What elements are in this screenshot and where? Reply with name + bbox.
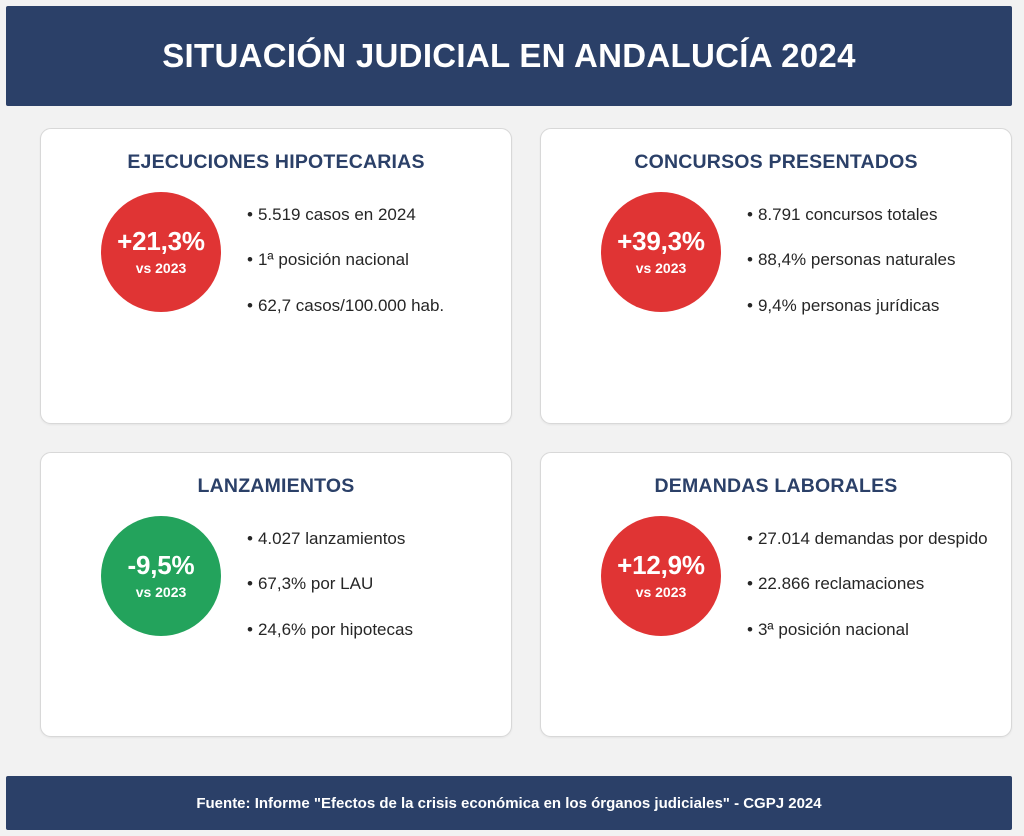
list-item-label: 4.027 lanzamientos [258,529,405,548]
list-item: •24,6% por hipotecas [247,619,493,640]
stat-comparison-label: vs 2023 [636,260,687,276]
list-item: •1ª posición nacional [247,249,493,270]
bullet-list: •5.519 casos en 2024 •1ª posición nacion… [247,204,493,316]
stat-circle: +12,9% vs 2023 [601,516,721,636]
bullet-dot-icon: • [247,528,253,549]
stat-circle: +21,3% vs 2023 [101,192,221,312]
stat-value: +12,9% [617,552,705,579]
header-bar: SITUACIÓN JUDICIAL EN ANDALUCÍA 2024 [6,6,1012,106]
stat-comparison-label: vs 2023 [136,584,187,600]
list-item-label: 8.791 concursos totales [758,205,938,224]
list-item-label: 27.014 demandas por despido [758,529,988,548]
source-citation: Fuente: Informe "Efectos de la crisis ec… [196,795,821,812]
bullet-dot-icon: • [747,619,753,640]
card-title: EJECUCIONES HIPOTECARIAS [59,151,493,174]
list-item: •4.027 lanzamientos [247,528,493,549]
card-body: +12,9% vs 2023 •27.014 demandas por desp… [559,514,993,640]
list-item-label: 9,4% personas jurídicas [758,296,939,315]
list-item-label: 5.519 casos en 2024 [258,205,416,224]
stat-circle: +39,3% vs 2023 [601,192,721,312]
bullet-dot-icon: • [247,295,253,316]
bullet-dot-icon: • [747,249,753,270]
list-item-label: 1ª posición nacional [258,250,409,269]
stat-circle: -9,5% vs 2023 [101,516,221,636]
bullet-dot-icon: • [247,619,253,640]
stat-comparison-label: vs 2023 [136,260,187,276]
stat-value: +21,3% [117,228,205,255]
list-item: •67,3% por LAU [247,573,493,594]
list-item: •22.866 reclamaciones [747,573,993,594]
stat-value: +39,3% [617,228,705,255]
list-item-label: 62,7 casos/100.000 hab. [258,296,444,315]
stat-comparison-label: vs 2023 [636,584,687,600]
list-item: •3ª posición nacional [747,619,993,640]
card-title: LANZAMIENTOS [59,475,493,498]
list-item: •5.519 casos en 2024 [247,204,493,225]
list-item-label: 88,4% personas naturales [758,250,956,269]
card-title: DEMANDAS LABORALES [559,475,993,498]
list-item: •27.014 demandas por despido [747,528,993,549]
bullet-list: •8.791 concursos totales •88,4% personas… [747,204,993,316]
bullet-list: •4.027 lanzamientos •67,3% por LAU •24,6… [247,528,493,640]
bullet-dot-icon: • [247,249,253,270]
list-item: •8.791 concursos totales [747,204,993,225]
bullet-dot-icon: • [747,295,753,316]
bullet-dot-icon: • [247,573,253,594]
stat-value: -9,5% [128,552,195,579]
stat-card-demandas-laborales: DEMANDAS LABORALES +12,9% vs 2023 •27.01… [540,452,1012,737]
bullet-dot-icon: • [247,204,253,225]
list-item: •9,4% personas jurídicas [747,295,993,316]
stats-card-grid: EJECUCIONES HIPOTECARIAS +21,3% vs 2023 … [40,128,1008,737]
card-body: +39,3% vs 2023 •8.791 concursos totales … [559,190,993,316]
stat-card-ejecuciones-hipotecarias: EJECUCIONES HIPOTECARIAS +21,3% vs 2023 … [40,128,512,424]
list-item: •62,7 casos/100.000 hab. [247,295,493,316]
card-title: CONCURSOS PRESENTADOS [559,151,993,174]
bullet-dot-icon: • [747,528,753,549]
cards-area: EJECUCIONES HIPOTECARIAS +21,3% vs 2023 … [0,106,1024,776]
page-title: SITUACIÓN JUDICIAL EN ANDALUCÍA 2024 [162,37,856,75]
stat-card-lanzamientos: LANZAMIENTOS -9,5% vs 2023 •4.027 lanzam… [40,452,512,737]
list-item: •88,4% personas naturales [747,249,993,270]
bullet-list: •27.014 demandas por despido •22.866 rec… [747,528,993,640]
bullet-dot-icon: • [747,573,753,594]
footer-bar: Fuente: Informe "Efectos de la crisis ec… [6,776,1012,830]
list-item-label: 67,3% por LAU [258,574,373,593]
card-body: -9,5% vs 2023 •4.027 lanzamientos •67,3%… [59,514,493,640]
stat-card-concursos-presentados: CONCURSOS PRESENTADOS +39,3% vs 2023 •8.… [540,128,1012,424]
list-item-label: 22.866 reclamaciones [758,574,924,593]
bullet-dot-icon: • [747,204,753,225]
infographic-root: SITUACIÓN JUDICIAL EN ANDALUCÍA 2024 EJE… [0,0,1024,836]
card-body: +21,3% vs 2023 •5.519 casos en 2024 •1ª … [59,190,493,316]
list-item-label: 3ª posición nacional [758,620,909,639]
list-item-label: 24,6% por hipotecas [258,620,413,639]
